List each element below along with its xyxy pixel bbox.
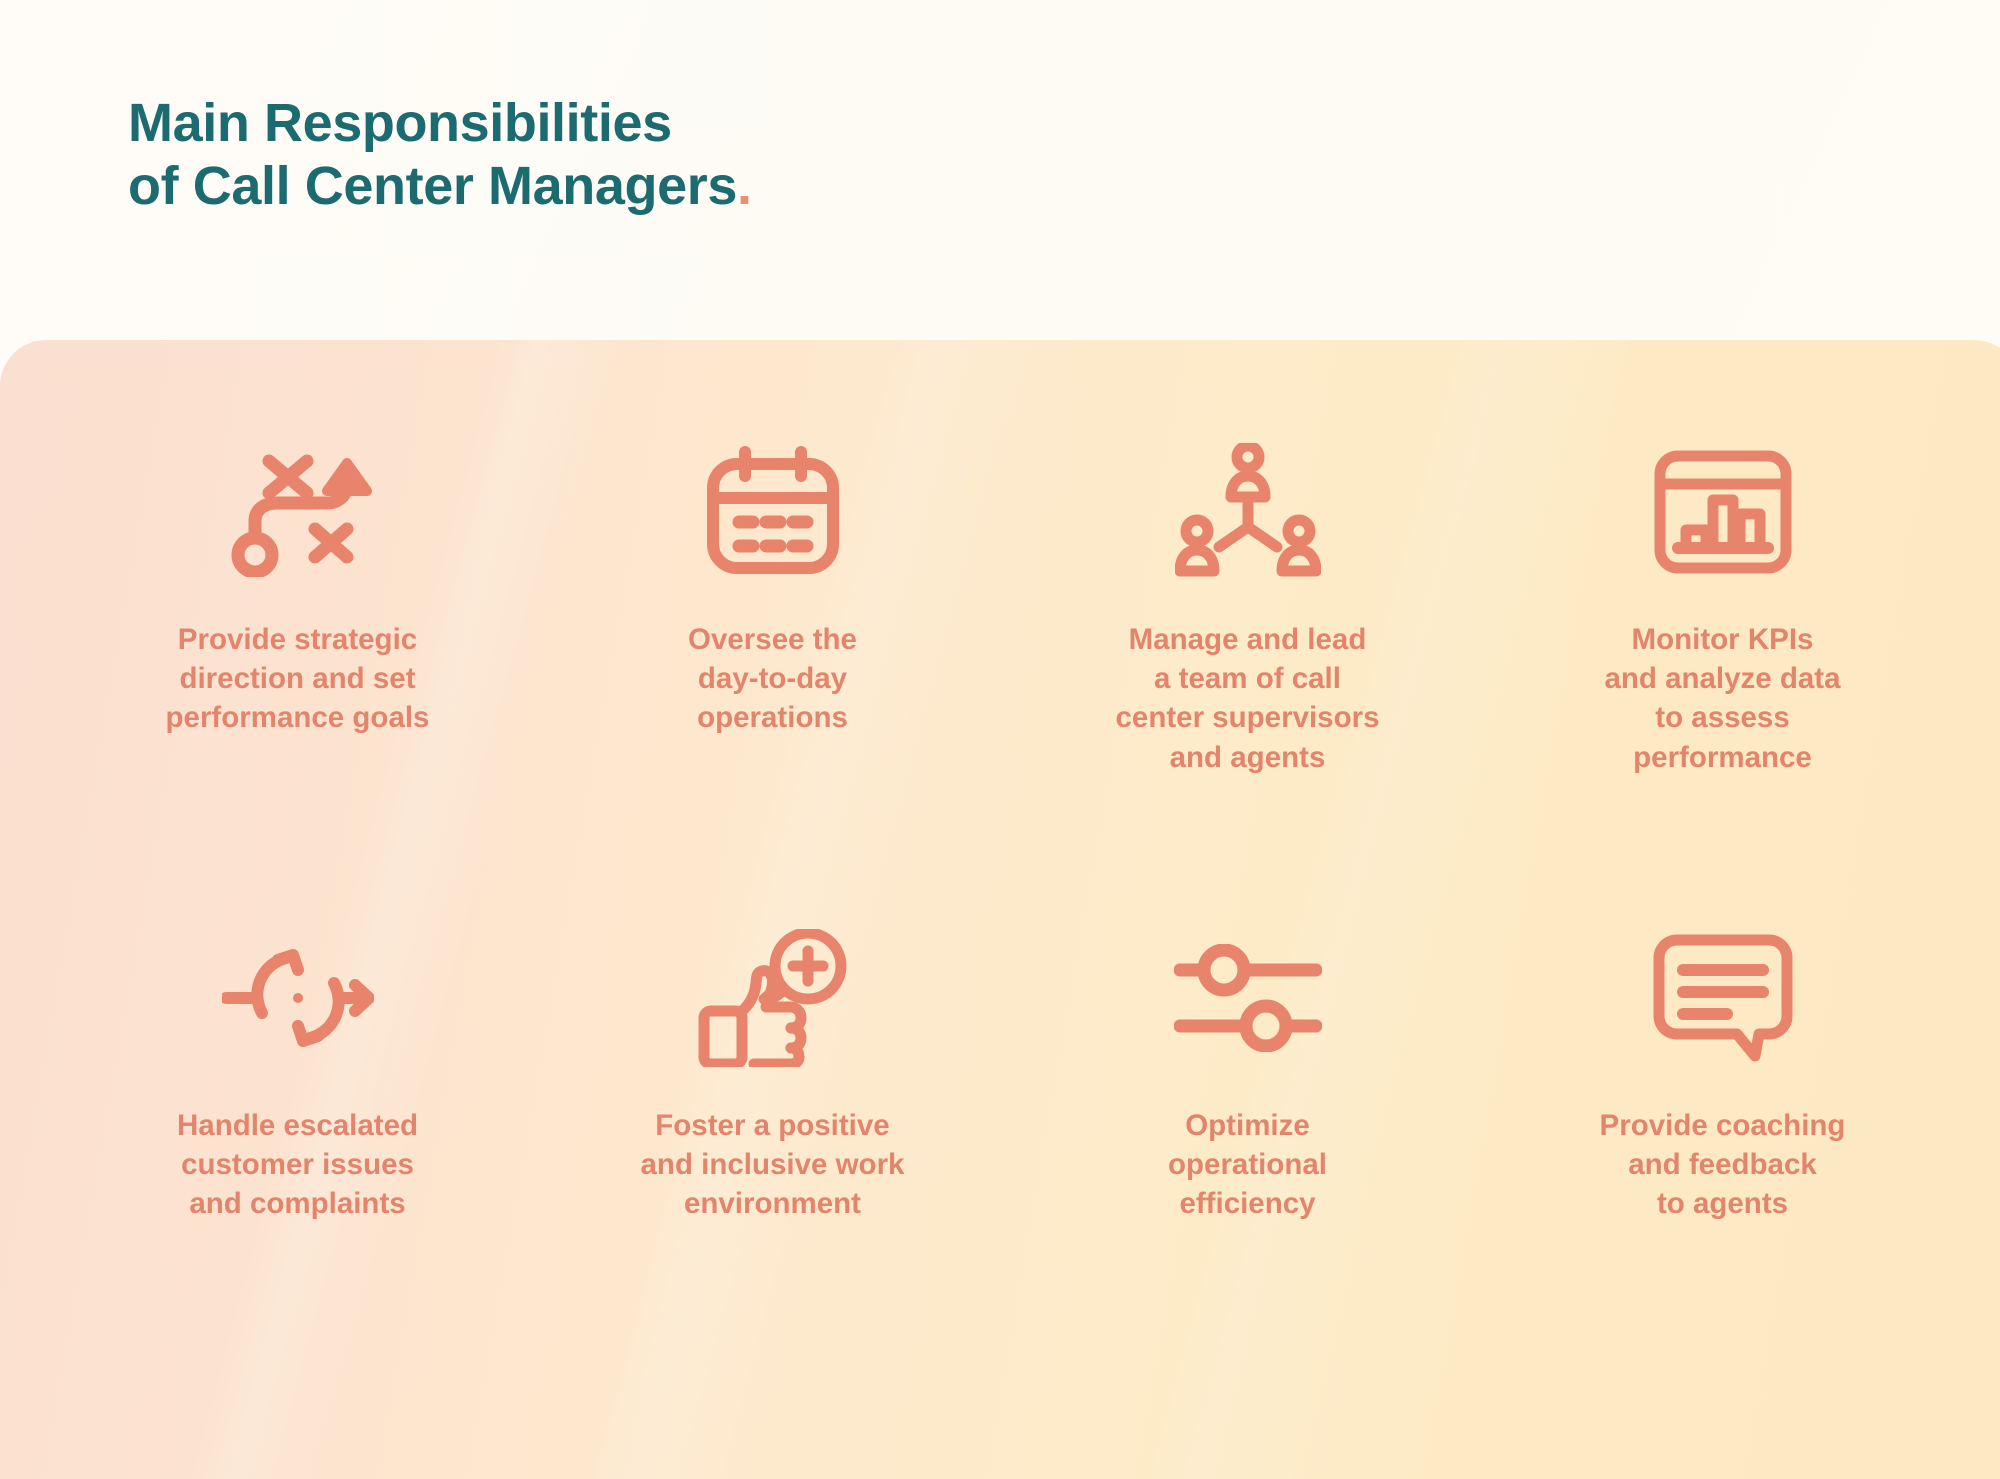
thumbs-up-plus-icon — [678, 918, 868, 1078]
strategy-path-icon — [203, 432, 393, 592]
org-chart-people-icon — [1153, 432, 1343, 592]
responsibility-label-2: Oversee the day-to-day operations — [688, 620, 857, 738]
responsibility-label-3: Manage and lead a team of call center su… — [1116, 620, 1380, 777]
title-line-2-wrapper: of Call Center Managers. — [128, 155, 752, 218]
responsibility-item-4: Monitor KPIs and analyze data to assess … — [1485, 380, 1960, 866]
responsibility-label-1: Provide strategic direction and set perf… — [166, 620, 430, 738]
responsibility-label-6: Foster a positive and inclusive work env… — [641, 1106, 905, 1224]
responsibilities-card: Provide strategic direction and set perf… — [0, 340, 2000, 1479]
responsibility-item-7: Optimize operational efficiency — [1010, 866, 1485, 1352]
infographic-page: Main Responsibilities of Call Center Man… — [0, 0, 2000, 1479]
responsibility-item-1: Provide strategic direction and set perf… — [60, 380, 535, 866]
responsibility-item-3: Manage and lead a team of call center su… — [1010, 380, 1485, 866]
responsibility-label-4: Monitor KPIs and analyze data to assess … — [1604, 620, 1840, 777]
title-line-1: Main Responsibilities — [128, 92, 752, 155]
responsibility-item-8: Provide coaching and feedback to agents — [1485, 866, 1960, 1352]
responsibility-item-2: Oversee the day-to-day operations — [535, 380, 1010, 866]
page-title: Main Responsibilities of Call Center Man… — [128, 92, 752, 217]
bar-chart-window-icon — [1628, 432, 1818, 592]
responsibility-item-5: Handle escalated customer issues and com… — [60, 866, 535, 1352]
responsibility-label-7: Optimize operational efficiency — [1168, 1106, 1327, 1224]
chat-bubble-lines-icon — [1628, 918, 1818, 1078]
title-line-2: of Call Center Managers — [128, 156, 737, 216]
sliders-settings-icon — [1153, 918, 1343, 1078]
responsibility-item-6: Foster a positive and inclusive work env… — [535, 866, 1010, 1352]
responsibilities-grid: Provide strategic direction and set perf… — [60, 380, 1960, 1352]
escalation-cycle-icon — [203, 918, 393, 1078]
title-period-accent: . — [737, 156, 752, 216]
responsibility-label-8: Provide coaching and feedback to agents — [1600, 1106, 1846, 1224]
responsibility-label-5: Handle escalated customer issues and com… — [177, 1106, 418, 1224]
calendar-icon — [678, 432, 868, 592]
